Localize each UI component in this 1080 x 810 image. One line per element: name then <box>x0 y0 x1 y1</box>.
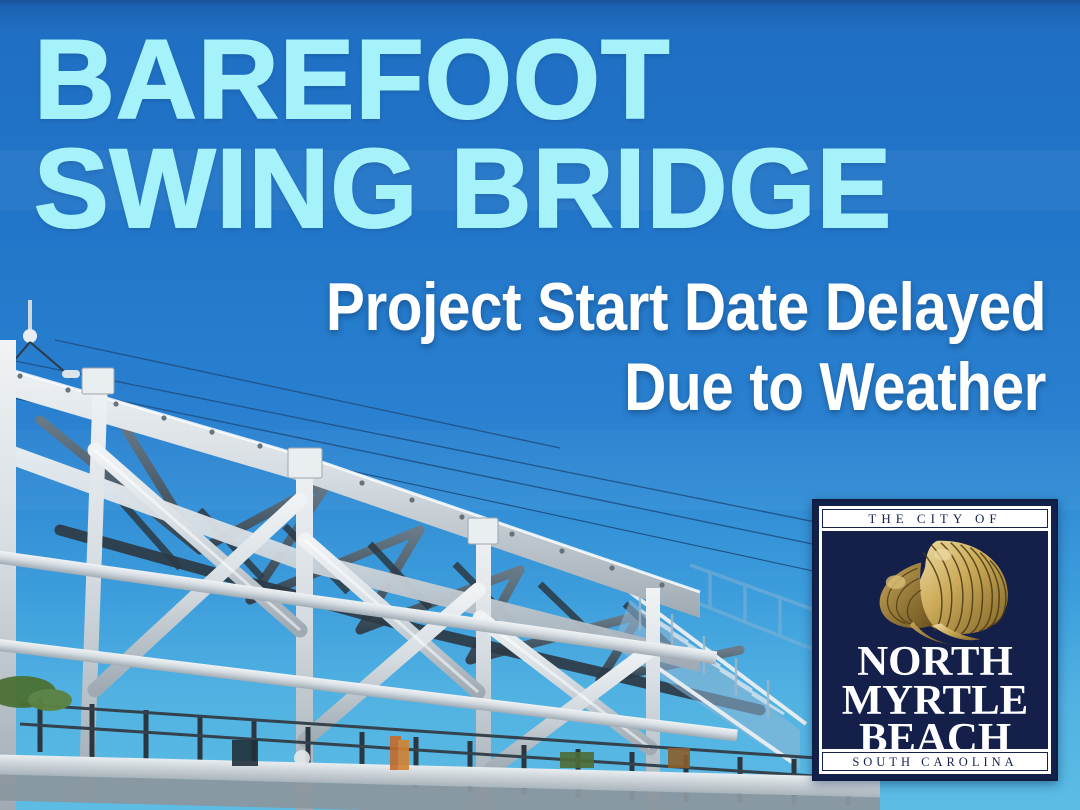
city-logo-inner: THE CITY OF <box>819 506 1051 774</box>
poster-graphic: BAREFOOT SWING BRIDGE Project Start Date… <box>0 0 1080 810</box>
conch-shell-icon <box>822 531 1048 649</box>
city-logo-name-line-2: MYRTLE <box>822 682 1048 721</box>
city-logo-name-line-1: NORTH <box>822 643 1048 682</box>
city-logo-bottom-band: SOUTH CAROLINA <box>822 752 1048 771</box>
sky-top-band <box>0 0 1080 8</box>
city-logo-body: NORTH MYRTLE BEACH <box>822 531 1048 749</box>
swing-bridge-photo <box>0 300 880 810</box>
city-logo-top-band: THE CITY OF <box>822 509 1048 528</box>
city-logo-name-line-3: BEACH <box>822 720 1048 749</box>
city-logo: THE CITY OF <box>812 499 1058 781</box>
city-logo-name: NORTH MYRTLE BEACH <box>822 643 1048 749</box>
